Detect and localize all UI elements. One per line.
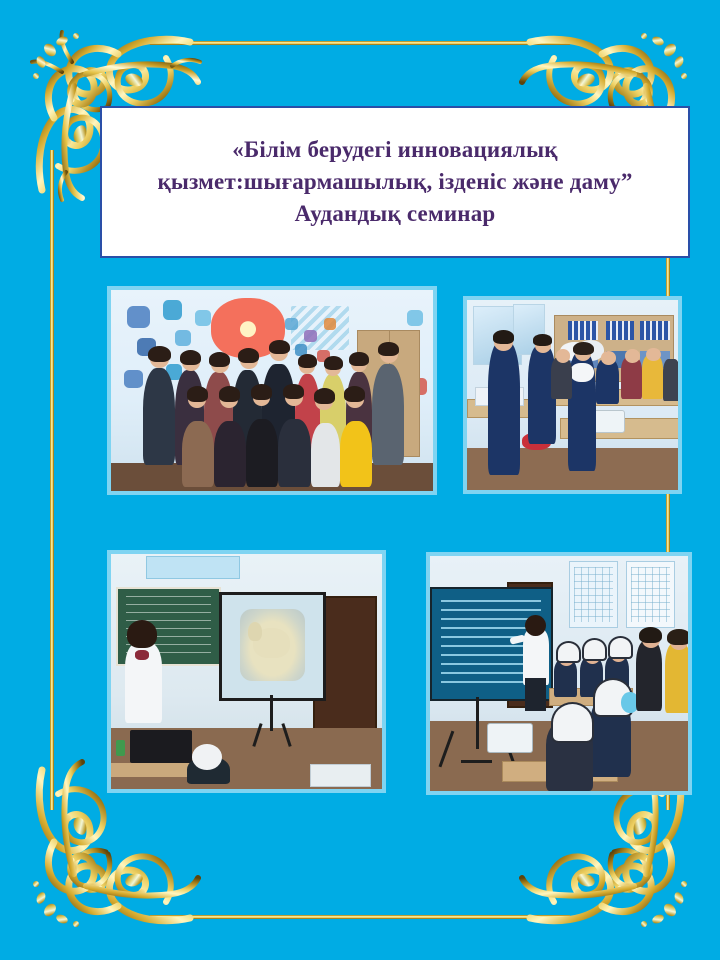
group-portrait-photo [107, 286, 437, 495]
frame-line-top [150, 41, 570, 45]
page-title: «Білім берудегі инновациялық қызмет:шыға… [143, 134, 646, 229]
seminar-poster: «Білім берудегі инновациялық қызмет:шыға… [0, 0, 720, 960]
frame-line-left [50, 150, 54, 810]
teacher-presentation-photo [107, 550, 386, 793]
title-card: «Білім берудегі инновациялық қызмет:шыға… [100, 106, 690, 258]
lesson-with-projection-photo [426, 552, 692, 795]
classroom-students-photo [463, 296, 682, 494]
frame-line-bottom [150, 915, 570, 919]
